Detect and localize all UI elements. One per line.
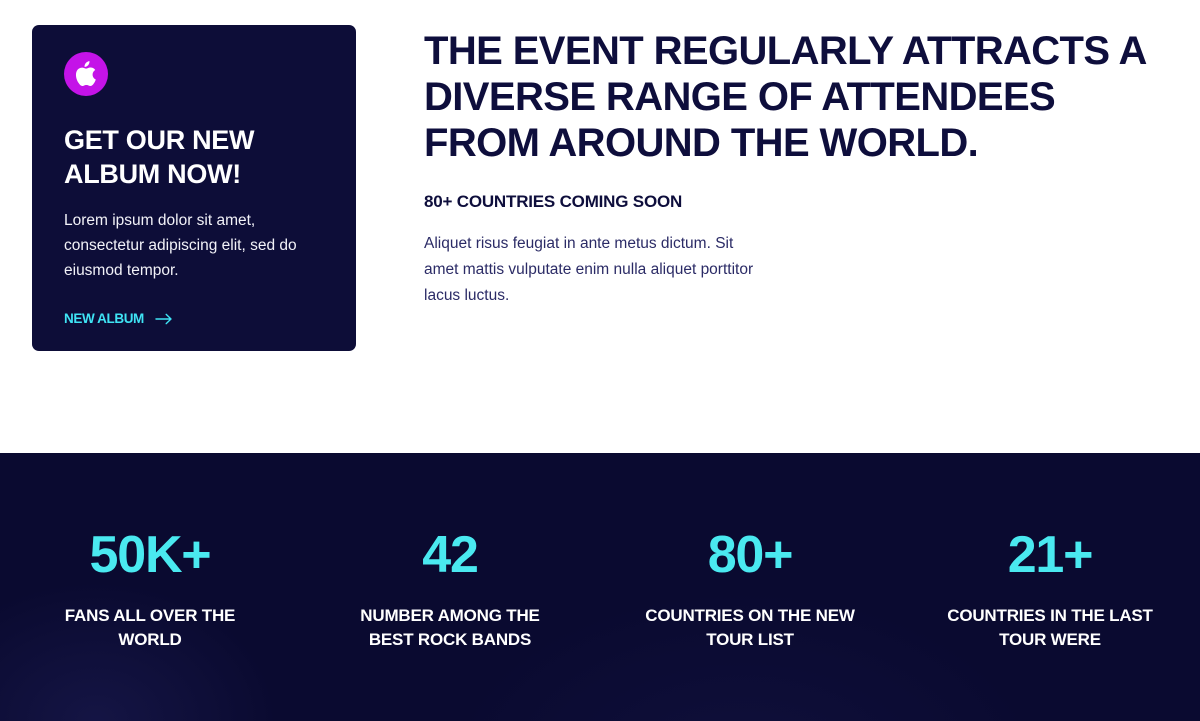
new-album-link-label: New album — [64, 311, 144, 326]
promo-card-body: Lorem ipsum dolor sit amet, consectetur … — [64, 208, 319, 283]
stats-grid: 50K+ Fans all over the world 42 Number a… — [0, 453, 1200, 721]
stat-label: Number among the best rock bands — [343, 604, 558, 652]
editorial-body: Aliquet risus feugiat in ante metus dict… — [424, 231, 769, 309]
new-album-link[interactable]: New album — [64, 311, 173, 326]
stats-section: 50K+ Fans all over the world 42 Number a… — [0, 453, 1200, 721]
stat-value: 21+ — [1008, 528, 1093, 582]
stat-item: 21+ Countries in the last tour were — [900, 453, 1200, 721]
promo-card[interactable]: Get our new album now! Lorem ipsum dolor… — [32, 25, 356, 351]
editorial-block: The event regularly attracts a diverse r… — [424, 28, 1164, 309]
page-root: Get our new album now! Lorem ipsum dolor… — [0, 0, 1200, 721]
stat-label: Fans all over the world — [43, 604, 258, 652]
stat-label: Countries in the last tour were — [943, 604, 1158, 652]
stat-value: 80+ — [708, 528, 793, 582]
apple-logo-icon — [64, 52, 108, 96]
stat-item: 50K+ Fans all over the world — [0, 453, 300, 721]
stat-item: 42 Number among the best rock bands — [300, 453, 600, 721]
stat-value: 50K+ — [90, 528, 211, 582]
editorial-subheading: 80+ Countries coming soon — [424, 190, 734, 213]
stat-label: Countries on the new tour list — [643, 604, 858, 652]
stat-item: 80+ Countries on the new tour list — [600, 453, 900, 721]
promo-card-title: Get our new album now! — [64, 123, 324, 191]
editorial-heading: The event regularly attracts a diverse r… — [424, 28, 1164, 166]
stat-value: 42 — [422, 528, 477, 582]
top-content-section: Get our new album now! Lorem ipsum dolor… — [0, 0, 1200, 453]
arrow-right-icon — [155, 313, 173, 325]
